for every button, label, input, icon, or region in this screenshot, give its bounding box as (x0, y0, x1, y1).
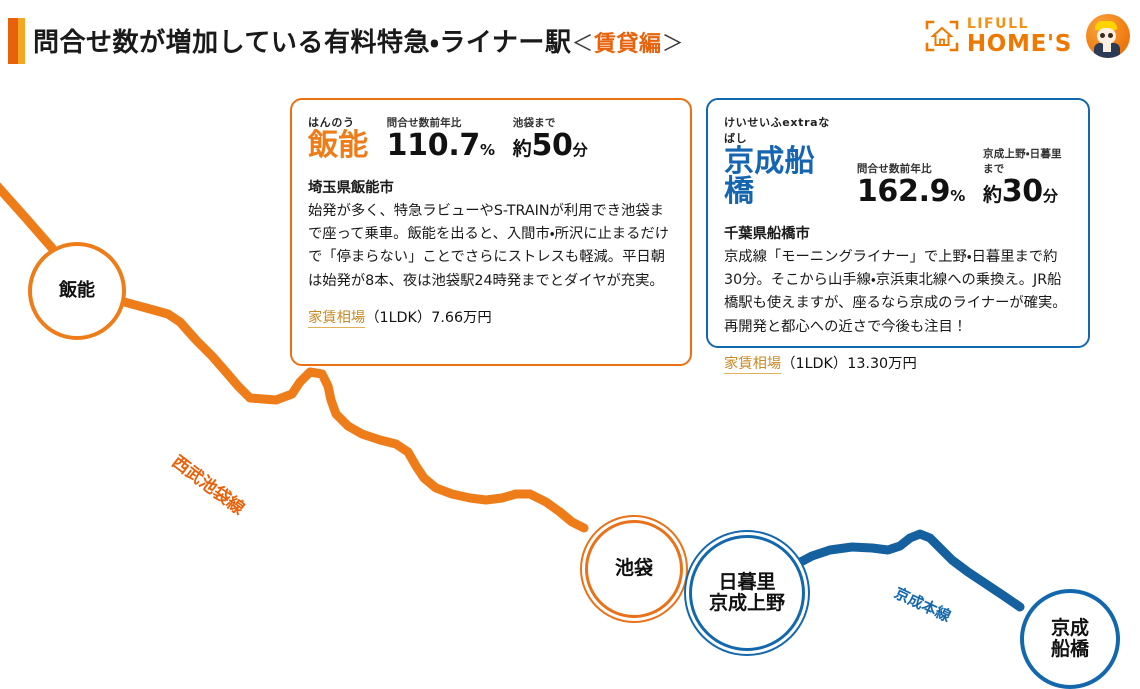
stat-inquiry-yoy: 問合せ数前年比 162.9% (857, 161, 965, 207)
card-city: 千葉県船橋市 (724, 223, 1072, 246)
page-title-main: 問合せ数が増加している有料特急・ライナー駅 (33, 28, 571, 58)
station-node-keisei-funabashi[interactable]: 京成 船橋 (1020, 589, 1120, 689)
stat-number: 50 (531, 128, 572, 163)
stat-unit: 分 (573, 141, 588, 159)
station-label-line1: 日暮里 (718, 571, 775, 593)
station-label-line1: 京成 (1051, 617, 1089, 639)
station-label-ikebukuro: 池袋 (615, 558, 653, 579)
stat-inquiry-yoy: 問合せ数前年比 110.7% (387, 115, 495, 161)
card-body-keisei-funabashi: 千葉県船橋市 京成線「モーニングライナー」で上野・日暮里まで約30分。そこから山… (724, 223, 1072, 339)
rent-value: （1LDK）13.30万円 (781, 356, 917, 372)
page-title-subject: 賃貸編 (594, 32, 662, 57)
station-name-block: はんのう 飯能 (308, 114, 369, 161)
stat-prefix: 約 (513, 138, 532, 160)
logo-lifull-text: LIFULL (967, 17, 1072, 31)
lifull-homes-logo: LIFULL HOME'S (925, 14, 1130, 58)
station-node-ikebukuro[interactable]: 池袋 (585, 520, 683, 618)
station-info-card-keisei-funabashi: けいせいふextraなばし 京成船橋 問合せ数前年比 162.9% 京成上野・日… (706, 98, 1090, 348)
logo-wordmark: LIFULL HOME'S (967, 17, 1072, 56)
page-title: 問合せ数が増加している有料特急・ライナー駅＜賃貸編＞ (33, 22, 684, 59)
station-furigana: けいせいふextraなばし (724, 114, 839, 146)
stat-value: 110.7% (387, 131, 495, 161)
rent-row-hanno: 家賃相場（1LDK）7.66万円 (308, 306, 674, 327)
header-accent-bar-primary (8, 18, 18, 64)
stat-travel-time: 池袋まで 約50分 (513, 115, 588, 161)
station-label-nippori-keisei-ueno: 日暮里 京成上野 (709, 572, 785, 615)
rent-value: （1LDK）7.66万円 (365, 310, 491, 326)
mascot-avatar-icon (1086, 14, 1130, 58)
station-name-block: けいせいふextraなばし 京成船橋 (724, 114, 839, 207)
card-body-hanno: 埼玉県飯能市 始発が多く、特急ラビューやS-TRAINが利用でき池袋まで座って乗… (308, 177, 674, 293)
rent-label: 家賃相場 (724, 356, 781, 374)
rent-label: 家賃相場 (308, 310, 365, 328)
station-info-card-hanno: はんのう 飯能 問合せ数前年比 110.7% 池袋まで 約50分 埼玉県飯能市 … (290, 98, 692, 366)
stat-unit: 分 (1043, 187, 1058, 205)
stat-unit: % (480, 141, 495, 159)
station-node-hanno[interactable]: 飯能 (28, 242, 126, 340)
stat-unit: % (950, 187, 965, 205)
logo-homes-text: HOME'S (967, 33, 1072, 56)
page-header: 問合せ数が増加している有料特急・ライナー駅＜賃貸編＞ LIFULL HOME'S (0, 0, 1140, 80)
page-title-bracket-close: ＞ (662, 32, 685, 57)
station-label-line2: 京成上野 (709, 592, 785, 614)
station-name: 京成船橋 (724, 147, 839, 207)
card-header-keisei-funabashi: けいせいふextraなばし 京成船橋 問合せ数前年比 162.9% 京成上野・日… (724, 114, 1072, 207)
stat-prefix: 約 (983, 184, 1002, 206)
stat-number: 30 (1002, 174, 1043, 209)
card-header-hanno: はんのう 飯能 問合せ数前年比 110.7% 池袋まで 約50分 (308, 114, 674, 161)
station-label-line2: 船橋 (1051, 638, 1089, 660)
station-name: 飯能 (308, 131, 369, 161)
stat-value: 約30分 (983, 177, 1072, 207)
house-bracket-icon (925, 19, 959, 53)
station-label-hanno: 飯能 (59, 281, 95, 301)
card-description: 始発が多く、特急ラビューやS-TRAINが利用でき池袋まで座って乗車。飯能を出る… (308, 200, 674, 293)
station-node-nippori-keisei-ueno[interactable]: 日暮里 京成上野 (689, 535, 805, 651)
page-title-bracket-open: ＜ (571, 32, 594, 57)
card-city: 埼玉県飯能市 (308, 177, 674, 200)
stat-number: 110.7 (387, 128, 480, 163)
stat-label: 京成上野・日暮里まで (983, 146, 1072, 176)
card-description: 京成線「モーニングライナー」で上野・日暮里まで約30分。そこから山手線・京浜東北… (724, 246, 1072, 339)
station-label-keisei-funabashi: 京成 船橋 (1051, 618, 1089, 661)
stat-travel-time: 京成上野・日暮里まで 約30分 (983, 146, 1072, 207)
stat-value: 162.9% (857, 177, 965, 207)
stat-number: 162.9 (857, 174, 950, 209)
stat-value: 約50分 (513, 131, 588, 161)
rent-row-keisei-funabashi: 家賃相場（1LDK）13.30万円 (724, 352, 1072, 373)
header-accent-bar-secondary (18, 18, 25, 64)
